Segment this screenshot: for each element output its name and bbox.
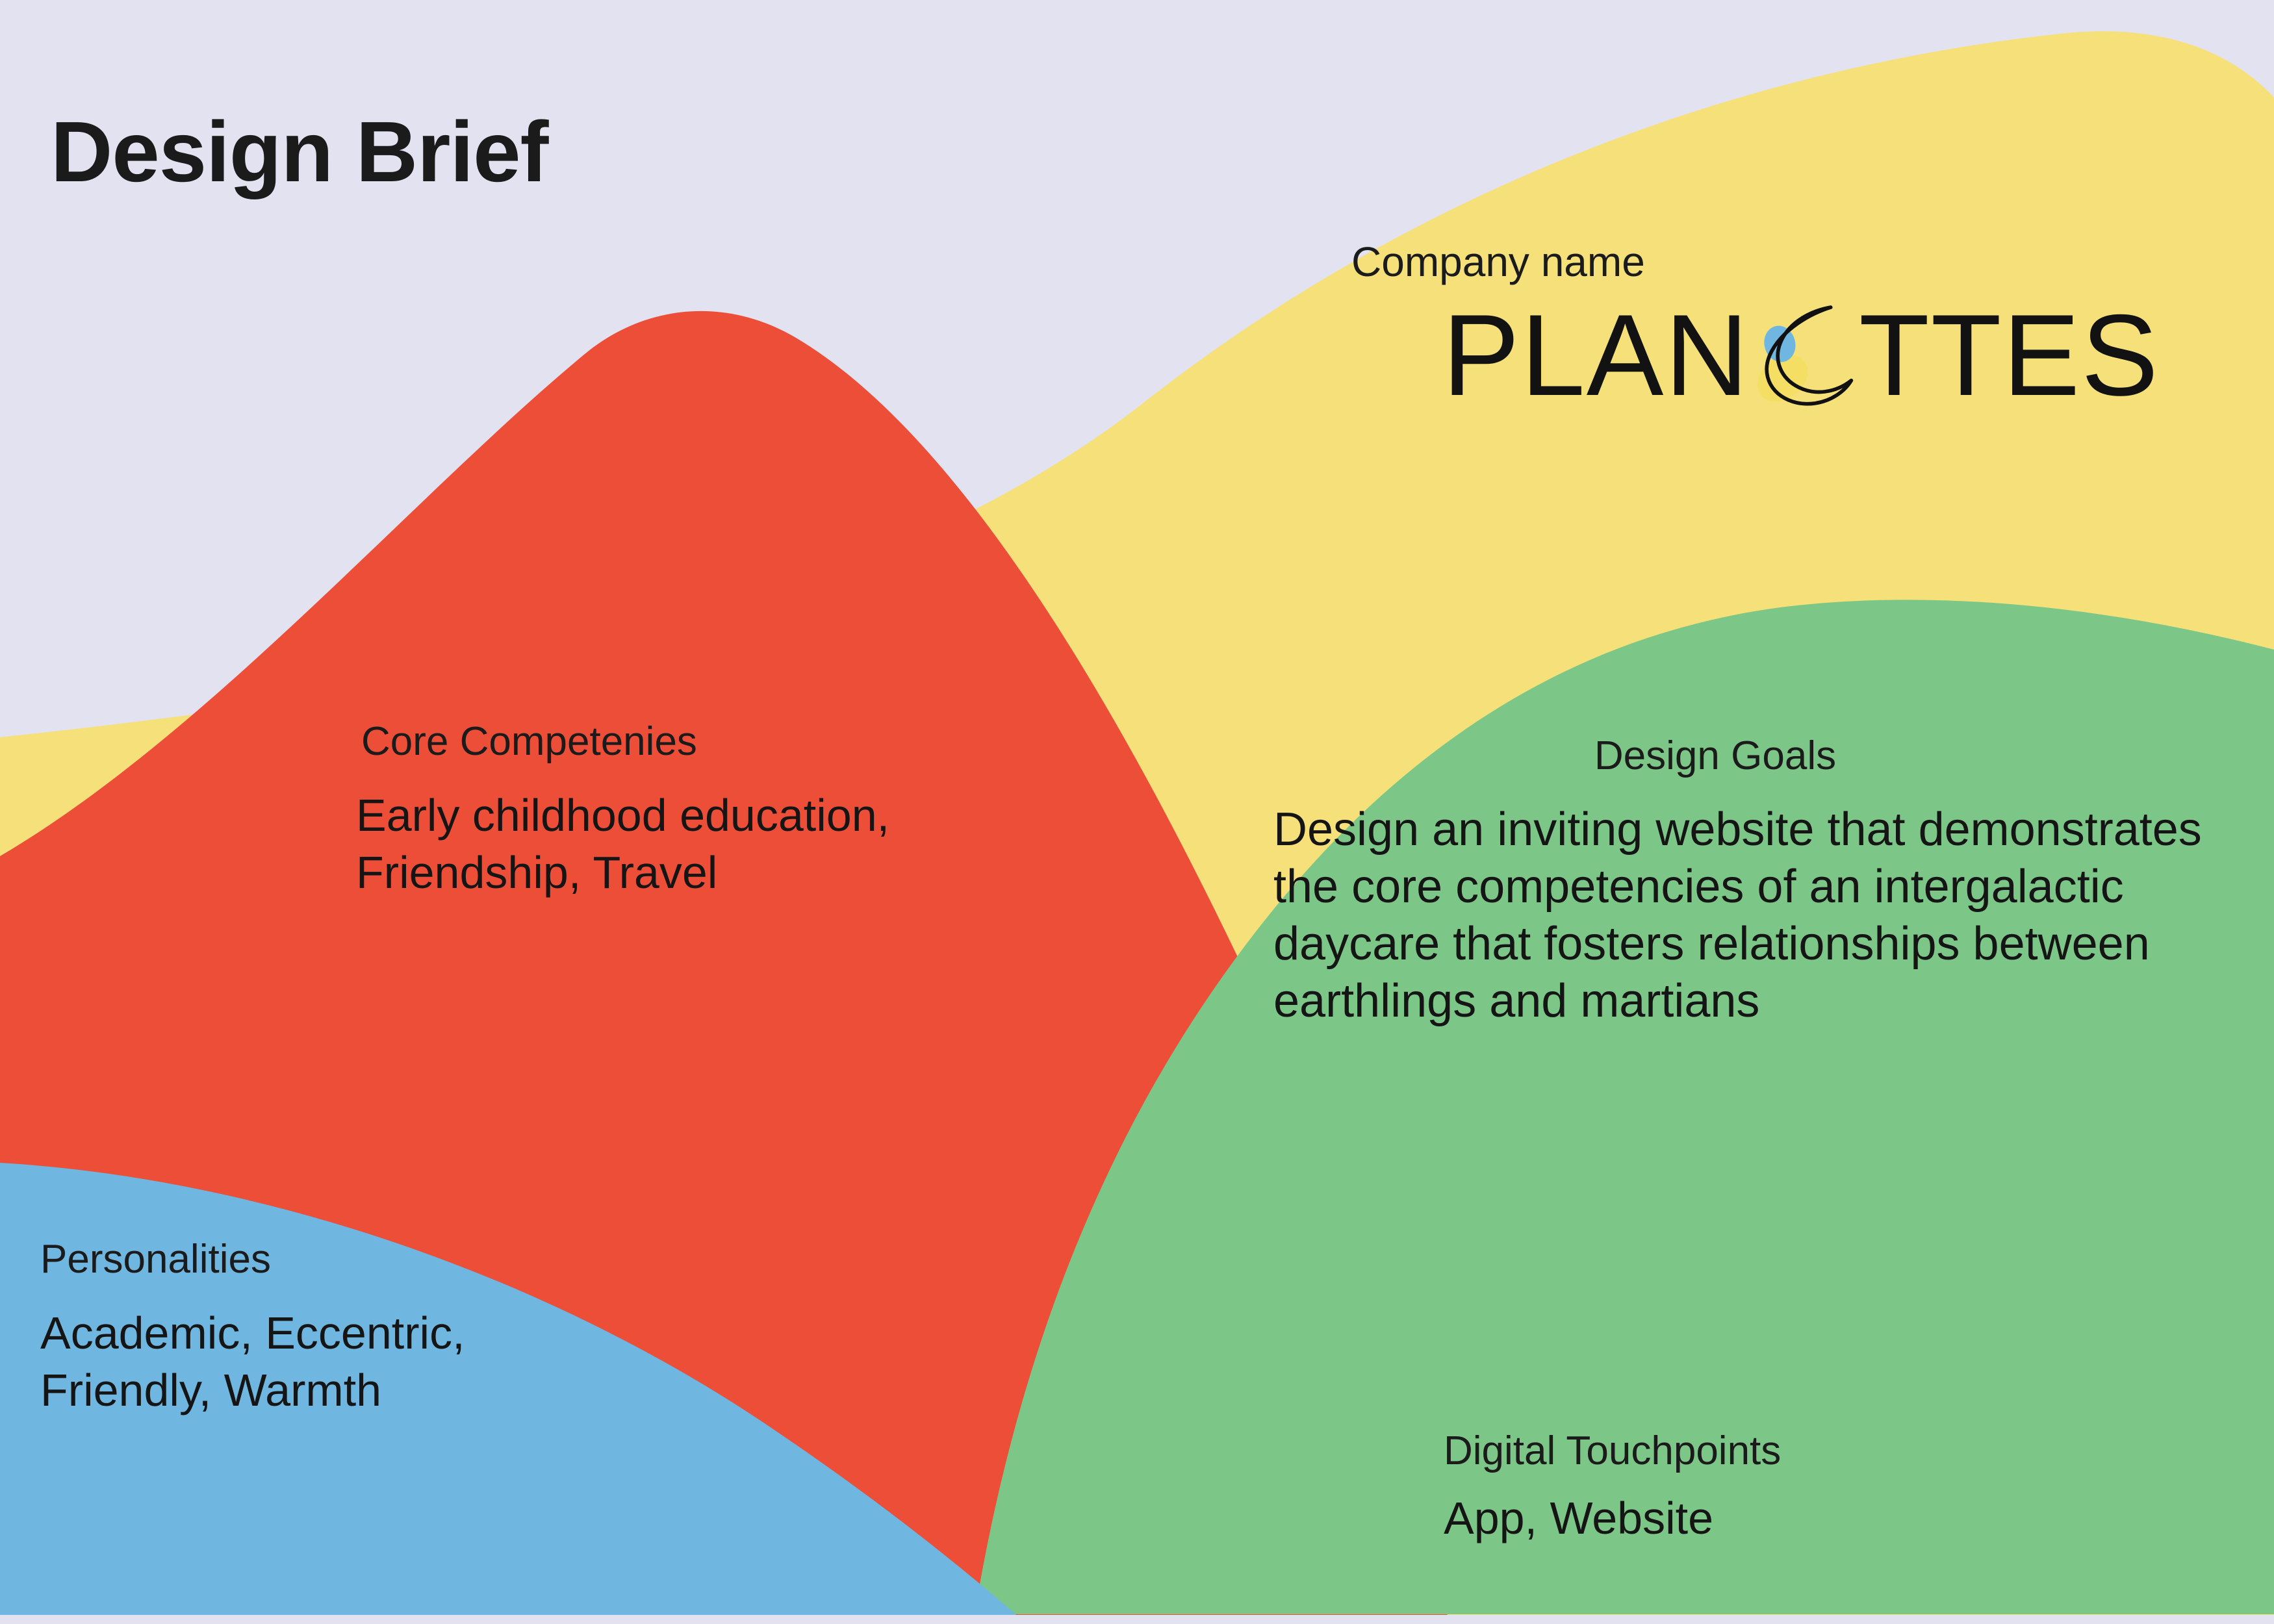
- personalities-heading: Personalities: [40, 1237, 690, 1282]
- logo-text-prefix: PLAN: [1442, 302, 1750, 409]
- core-competencies-body: Early childhood education, Friendship, T…: [356, 787, 1103, 901]
- personalities-body: Academic, Eccentric, Friendly, Warmth: [40, 1305, 690, 1419]
- digital-touchpoints-block: Digital Touchpoints App, Website: [1444, 1429, 2028, 1547]
- design-goals-body: Design an inviting website that demonstr…: [1273, 802, 2235, 1030]
- logo-text-suffix: TTES: [1859, 302, 2160, 409]
- design-goals-heading: Design Goals: [1195, 734, 2235, 778]
- personalities-block: Personalities Academic, Eccentric, Frien…: [40, 1237, 690, 1419]
- design-goals-block: Design Goals Design an inviting website …: [1273, 734, 2235, 1030]
- company-block: Company name PLAN TTES: [1338, 240, 2183, 412]
- company-logo: PLAN TTES: [1442, 298, 2183, 412]
- digital-touchpoints-heading: Digital Touchpoints: [1444, 1429, 2028, 1473]
- page-title: Design Brief: [51, 109, 548, 195]
- digital-touchpoints-body: App, Website: [1444, 1490, 2028, 1547]
- design-brief-poster: Design Brief Company name PLAN TTES Core…: [0, 0, 2274, 1624]
- bottom-edge-strip: [0, 1615, 2274, 1624]
- company-name-label: Company name: [1351, 240, 2183, 284]
- core-competencies-heading: Core Competenies: [361, 720, 1103, 764]
- crescent-moon-icon: [1748, 298, 1863, 412]
- core-competencies-block: Core Competenies Early childhood educati…: [356, 720, 1103, 901]
